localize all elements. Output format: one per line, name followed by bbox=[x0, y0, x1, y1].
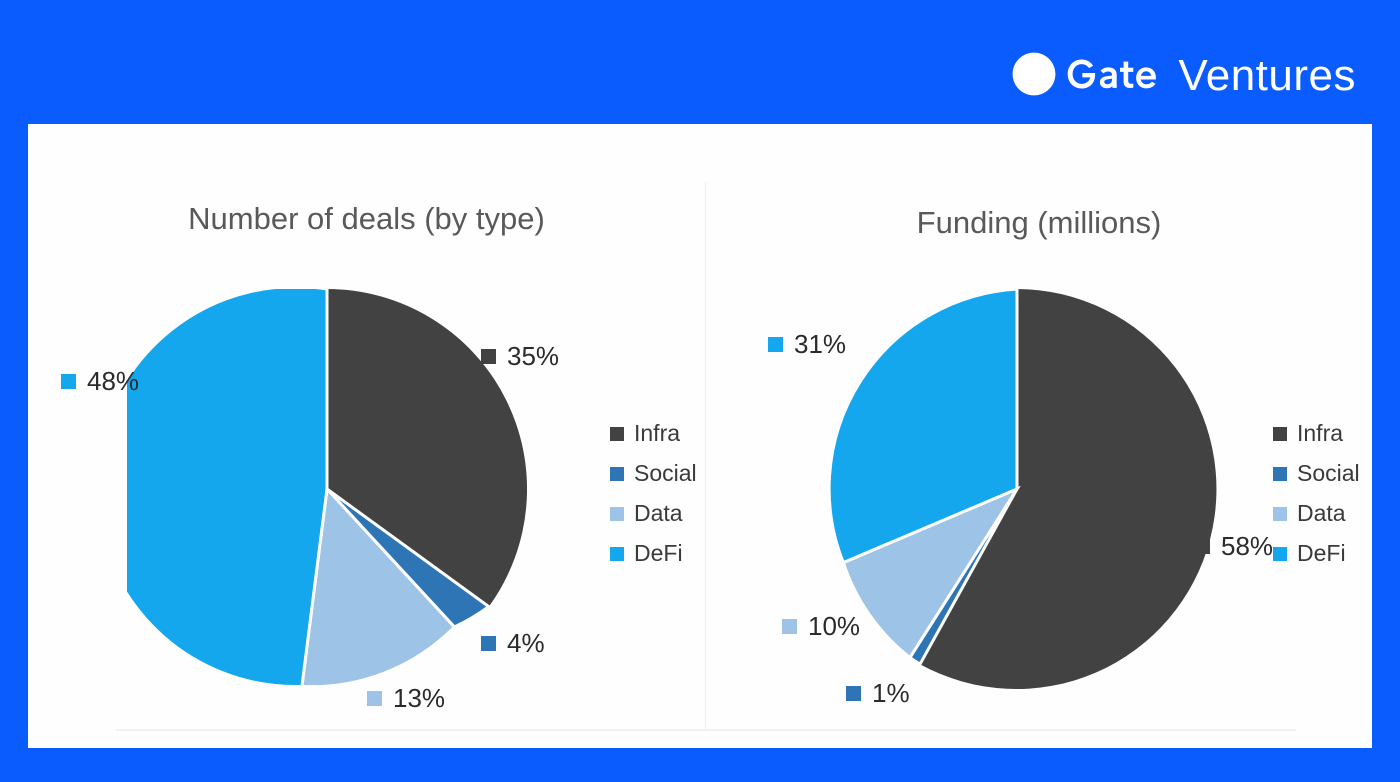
slide-root: { "brand": { "logo_icon": "gate-logo-ico… bbox=[0, 0, 1400, 782]
card-inner: Number of deals (by type) 35% bbox=[28, 124, 1372, 748]
data-label-data-deals: 13% bbox=[367, 685, 445, 711]
pie-slice-defi bbox=[127, 289, 327, 687]
data-label-infra-deals: 35% bbox=[481, 343, 559, 369]
data-label-defi-funding: 31% bbox=[768, 331, 846, 357]
swatch-defi-icon bbox=[61, 374, 76, 389]
chart-panel-funding: Funding (millions) 31% bbox=[706, 124, 1372, 748]
legend-swatch-social-icon bbox=[1273, 467, 1287, 481]
legend-deals: Infra Social Data DeFi bbox=[610, 422, 697, 565]
chart-title-funding: Funding (millions) bbox=[706, 206, 1372, 240]
legend-item-infra[interactable]: Infra bbox=[1273, 422, 1360, 445]
gate-logo-icon bbox=[1012, 52, 1164, 101]
swatch-data-icon bbox=[782, 619, 797, 634]
legend-funding: Infra Social Data DeFi bbox=[1273, 422, 1360, 565]
swatch-infra-icon bbox=[481, 349, 496, 364]
legend-swatch-social-icon bbox=[610, 467, 624, 481]
swatch-infra-icon bbox=[1195, 539, 1210, 554]
legend-item-defi[interactable]: DeFi bbox=[610, 542, 697, 565]
data-label-social-deals: 4% bbox=[481, 630, 545, 656]
legend-item-data[interactable]: Data bbox=[610, 502, 697, 525]
swatch-defi-icon bbox=[768, 337, 783, 352]
legend-swatch-defi-icon bbox=[1273, 547, 1287, 561]
pie-chart-deals bbox=[127, 289, 527, 689]
swatch-social-icon bbox=[846, 686, 861, 701]
data-label-infra-funding: 58% bbox=[1195, 533, 1273, 559]
legend-item-social[interactable]: Social bbox=[1273, 462, 1360, 485]
data-label-social-funding: 1% bbox=[846, 680, 910, 706]
pie-chart-funding bbox=[817, 289, 1217, 689]
swatch-data-icon bbox=[367, 691, 382, 706]
legend-item-infra[interactable]: Infra bbox=[610, 422, 697, 445]
swatch-social-icon bbox=[481, 636, 496, 651]
legend-swatch-infra-icon bbox=[1273, 427, 1287, 441]
slide-card: Number of deals (by type) 35% bbox=[28, 124, 1372, 748]
legend-item-data[interactable]: Data bbox=[1273, 502, 1360, 525]
legend-swatch-defi-icon bbox=[610, 547, 624, 561]
chart-panel-deals: Number of deals (by type) 35% bbox=[28, 124, 705, 748]
legend-item-social[interactable]: Social bbox=[610, 462, 697, 485]
legend-item-defi[interactable]: DeFi bbox=[1273, 542, 1360, 565]
chart-title-deals: Number of deals (by type) bbox=[28, 202, 705, 236]
legend-swatch-data-icon bbox=[610, 507, 624, 521]
data-label-defi-deals: 48% bbox=[61, 368, 139, 394]
brand-name: Ventures bbox=[1178, 54, 1356, 98]
data-label-data-funding: 10% bbox=[782, 613, 860, 639]
legend-swatch-infra-icon bbox=[610, 427, 624, 441]
brand-lockup: Ventures bbox=[1012, 46, 1356, 106]
legend-swatch-data-icon bbox=[1273, 507, 1287, 521]
